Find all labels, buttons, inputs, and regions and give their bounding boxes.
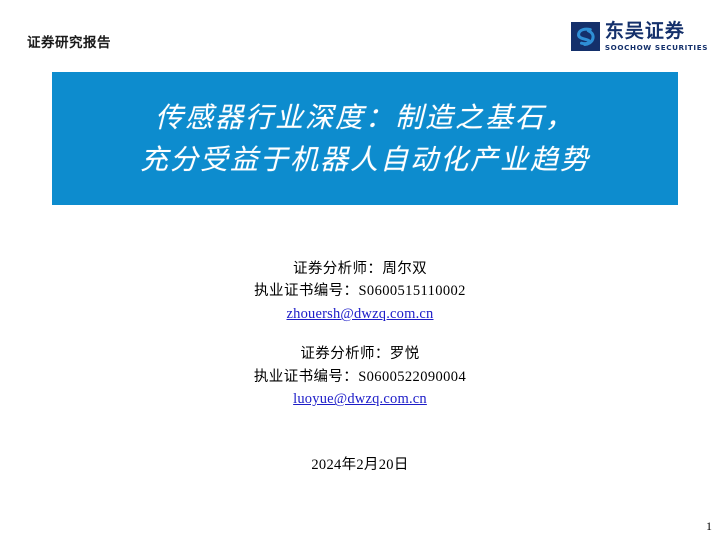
logo-english-name: SOOCHOW SECURITIES: [605, 44, 708, 51]
title-line-1: 传感器行业深度：制造之基石，: [155, 97, 575, 139]
analyst-email-link-1[interactable]: zhouersh@dwzq.com.cn: [0, 303, 720, 325]
page-number: 1: [706, 519, 712, 534]
logo-wordmark: 东吴证券 SOOCHOW SECURITIES: [605, 22, 708, 51]
analyst-license-2: 执业证书编号：S0600522090004: [0, 366, 720, 388]
report-type-label: 证券研究报告: [27, 31, 111, 51]
analyst-name-2: 证券分析师：罗悦: [0, 343, 720, 365]
publication-date: 2024年2月20日: [0, 453, 720, 474]
analyst-block-2: 证券分析师：罗悦 执业证书编号：S0600522090004 luoyue@dw…: [0, 343, 720, 410]
title-line-2: 充分受益于机器人自动化产业趋势: [140, 139, 590, 181]
slide-cover: 证券研究报告 东吴证券 SOOCHOW SECURITIES 传感器行业深度：制…: [0, 0, 720, 540]
company-logo: 东吴证券 SOOCHOW SECURITIES: [571, 22, 708, 51]
analyst-name-1: 证券分析师：周尔双: [0, 258, 720, 280]
analyst-block-1: 证券分析师：周尔双 执业证书编号：S0600515110002 zhouersh…: [0, 258, 720, 325]
soochow-swirl-logo-mark: [571, 22, 600, 51]
analyst-license-1: 执业证书编号：S0600515110002: [0, 280, 720, 302]
analyst-credits: 证券分析师：周尔双 执业证书编号：S0600515110002 zhouersh…: [0, 258, 720, 411]
title-banner: 传感器行业深度：制造之基石， 充分受益于机器人自动化产业趋势: [52, 72, 678, 205]
analyst-email-link-2[interactable]: luoyue@dwzq.com.cn: [0, 388, 720, 410]
logo-chinese-name: 东吴证券: [605, 22, 708, 41]
